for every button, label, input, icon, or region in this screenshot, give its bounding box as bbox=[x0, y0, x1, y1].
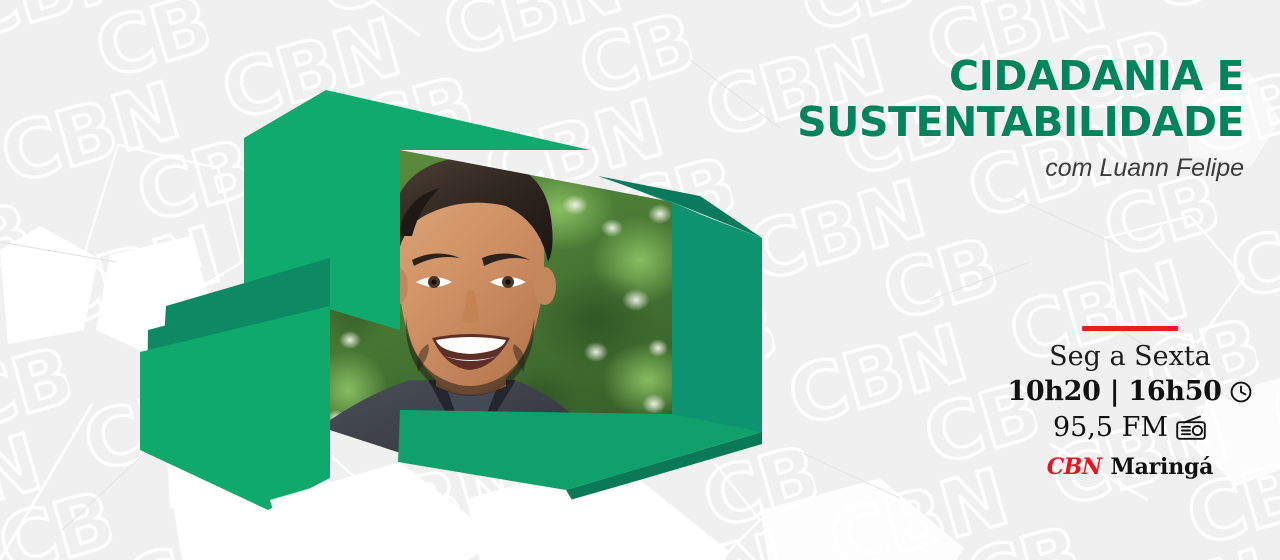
schedule-frequency-label: 95,5 FM bbox=[1053, 412, 1168, 443]
page-title-line-2: SUSTENTABILIDADE bbox=[797, 102, 1244, 143]
schedule-times-label: 10h20 | 16h50 bbox=[1007, 376, 1221, 407]
station-logo-city: Maringá bbox=[1110, 454, 1213, 480]
radio-icon bbox=[1175, 415, 1207, 441]
schedule-days-label: Seg a Sexta bbox=[1020, 343, 1240, 371]
schedule-times-row: 10h20 | 16h50 bbox=[1020, 376, 1240, 407]
radio-show-banner: CBN CBN bbox=[0, 0, 1280, 560]
station-logo: CBN Maringá bbox=[1020, 454, 1240, 480]
red-divider bbox=[1082, 326, 1178, 331]
page-title-line-1: CIDADANIA E bbox=[797, 56, 1244, 97]
station-logo-brand: CBN bbox=[1047, 454, 1102, 480]
host-name-label: com Luann Felipe bbox=[797, 154, 1244, 183]
schedule-frequency-row: 95,5 FM bbox=[1020, 412, 1240, 443]
headline-block: CIDADANIA E SUSTENTABILIDADE com Luann F… bbox=[797, 56, 1244, 183]
clock-icon bbox=[1229, 380, 1253, 404]
schedule-block: Seg a Sexta 10h20 | 16h50 95,5 FM bbox=[1020, 326, 1240, 480]
